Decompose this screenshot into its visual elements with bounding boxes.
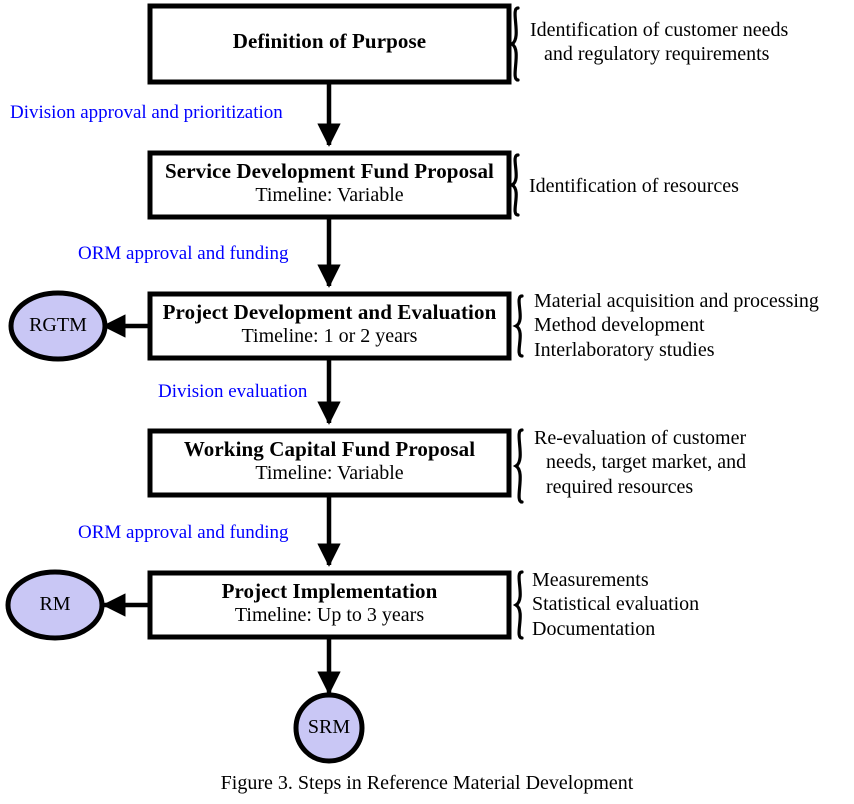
annotation-line: Identification of resources [529, 174, 739, 198]
figure-canvas: Definition of Purpose Service Developmen… [0, 0, 854, 804]
annotation-line: needs, target market, and [534, 450, 746, 474]
node-title: Project Development and Evaluation [150, 301, 509, 325]
node-title: Working Capital Fund Proposal [150, 438, 509, 462]
node-title: Definition of Purpose [150, 30, 509, 54]
annotation-service-development-fund-proposal: Identification of resources [529, 174, 739, 198]
node-label-service-development-fund-proposal: Service Development Fund Proposal Timeli… [150, 160, 509, 207]
node-title: Service Development Fund Proposal [150, 160, 509, 184]
annotation-line: Material acquisition and processing [534, 289, 819, 313]
node-label-project-development-and-evaluation: Project Development and Evaluation Timel… [150, 301, 509, 348]
node-label-working-capital-fund-proposal: Working Capital Fund Proposal Timeline: … [150, 438, 509, 485]
annotation-line: Statistical evaluation [532, 592, 699, 616]
shape-label-rgtm: RGTM [8, 314, 108, 337]
node-timeline: Timeline: 1 or 2 years [150, 325, 509, 348]
node-timeline: Timeline: Variable [150, 462, 509, 485]
figure-caption: Figure 3. Steps in Reference Material De… [0, 772, 854, 795]
annotation-line: required resources [534, 475, 746, 499]
brace-working-capital-fund-proposal [516, 430, 522, 502]
annotation-line: Method development [534, 313, 819, 337]
edge-label-orm-approval-and-funding-2: ORM approval and funding [78, 522, 289, 544]
annotation-project-development-and-evaluation: Material acquisition and processing Meth… [534, 289, 819, 362]
node-title: Project Implementation [150, 580, 509, 604]
annotation-project-implementation: Measurements Statistical evaluation Docu… [532, 568, 699, 641]
annotation-line: Re-evaluation of customer [534, 426, 746, 450]
annotation-line: Identification of customer needs [530, 18, 788, 42]
annotation-working-capital-fund-proposal: Re-evaluation of customer needs, target … [534, 426, 746, 499]
node-label-definition-of-purpose: Definition of Purpose [150, 30, 509, 54]
annotation-line: Interlaboratory studies [534, 338, 819, 362]
brace-project-implementation [516, 572, 522, 638]
node-timeline: Timeline: Up to 3 years [150, 604, 509, 627]
node-label-project-implementation: Project Implementation Timeline: Up to 3… [150, 580, 509, 627]
shape-label-srm: SRM [279, 716, 379, 739]
annotation-line: and regulatory requirements [530, 42, 788, 66]
edge-label-orm-approval-and-funding-1: ORM approval and funding [78, 243, 289, 265]
brace-service-development-fund-proposal [512, 155, 518, 215]
edge-label-division-evaluation: Division evaluation [158, 381, 307, 403]
node-timeline: Timeline: Variable [150, 184, 509, 207]
brace-project-development-and-evaluation [516, 296, 522, 356]
annotation-definition-of-purpose: Identification of customer needs and reg… [530, 18, 788, 67]
annotation-line: Measurements [532, 568, 699, 592]
shape-label-rm: RM [5, 593, 105, 616]
edge-label-division-approval-and-prioritization: Division approval and prioritization [10, 102, 283, 124]
annotation-line: Documentation [532, 617, 699, 641]
brace-definition-of-purpose [512, 8, 518, 80]
